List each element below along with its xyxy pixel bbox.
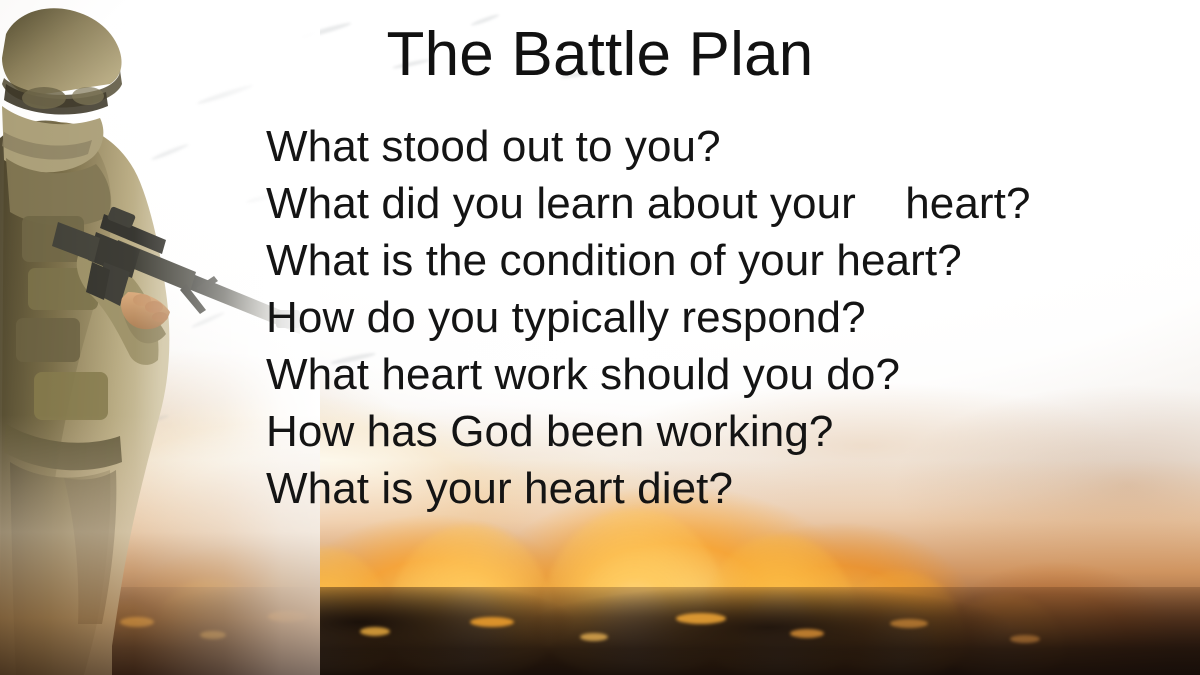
list-item: What is the condition of your heart? <box>266 232 1186 289</box>
list-item: What did you learn about your heart? <box>266 175 1186 232</box>
page-title: The Battle Plan <box>0 24 1200 86</box>
list-item: How do you typically respond? <box>266 289 1186 346</box>
list-item: What heart work should you do? <box>266 346 1186 403</box>
list-item: How has God been working? <box>266 403 1186 460</box>
presentation-slide: The Battle Plan What stood out to you? W… <box>0 0 1200 675</box>
list-item: What is your heart diet? <box>266 460 1186 517</box>
list-item: What stood out to you? <box>266 118 1186 175</box>
question-list: What stood out to you? What did you lear… <box>266 118 1186 517</box>
